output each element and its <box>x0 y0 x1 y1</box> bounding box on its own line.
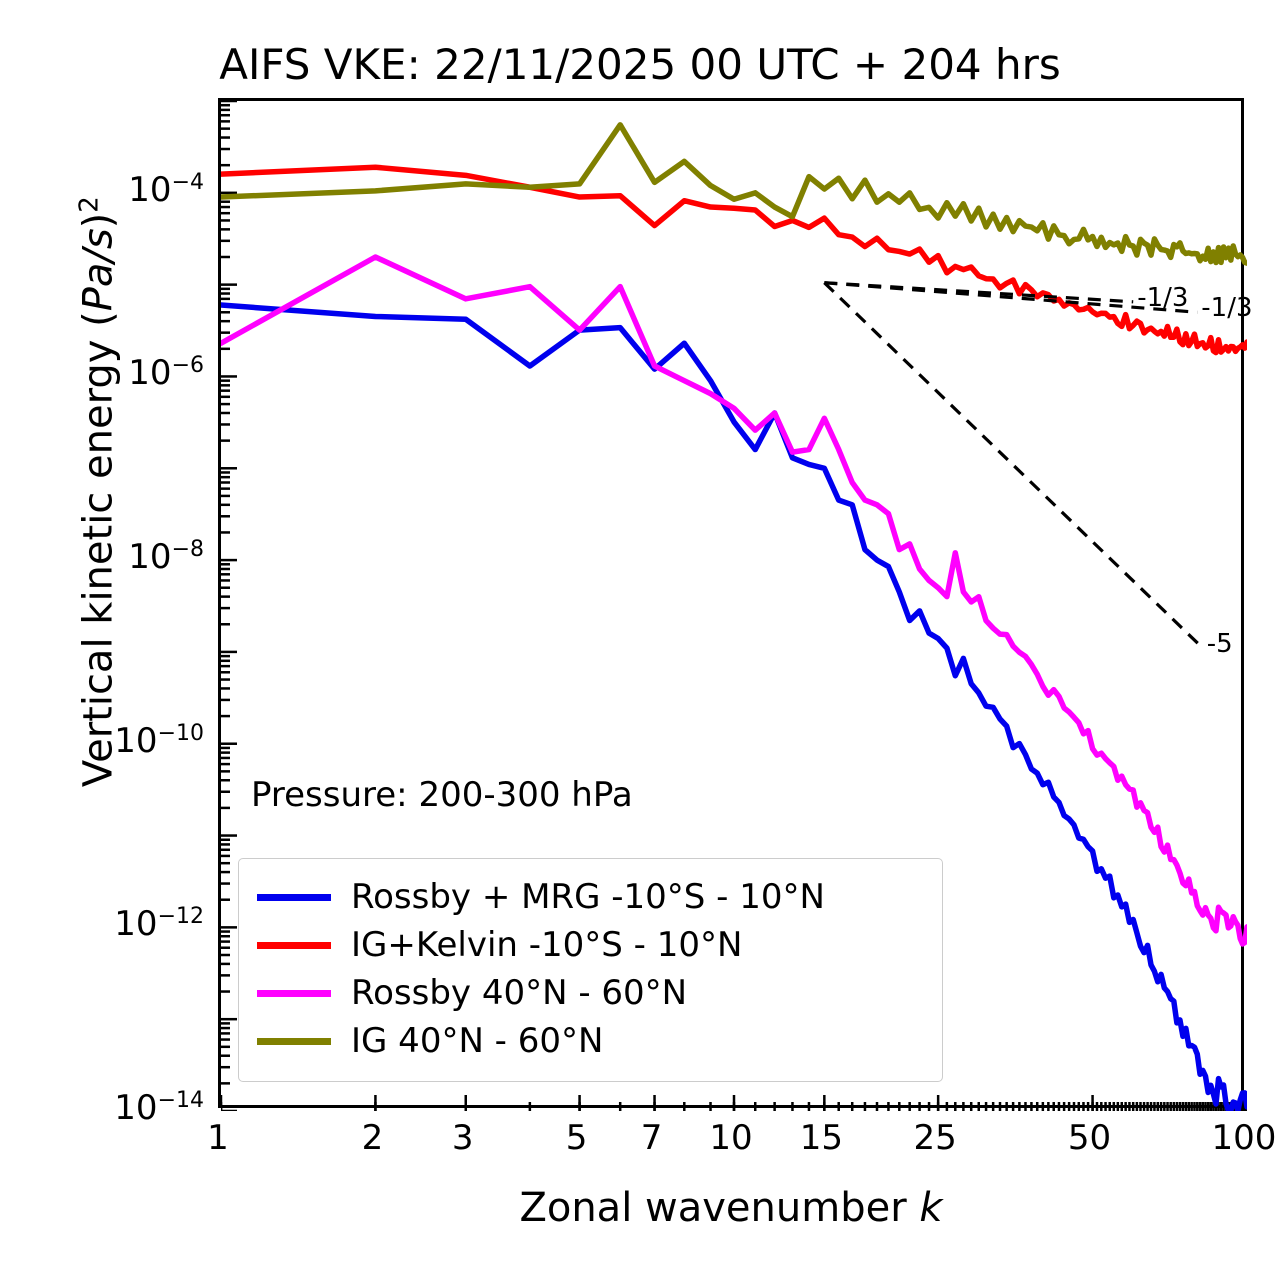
x-tick-label-10: 10 <box>709 1118 752 1158</box>
y-tick-exponent: −14 <box>158 1088 204 1113</box>
legend-item-ig-kelvin[interactable]: IG+Kelvin -10°S - 10°N <box>257 921 924 969</box>
x-tick-label-25: 25 <box>914 1118 957 1158</box>
y-tick-exponent: −10 <box>158 721 204 746</box>
x-tick-label-2: 2 <box>362 1118 384 1158</box>
pressure-annotation: Pressure: 200-300 hPa <box>251 775 633 815</box>
y-tick-base: 10 <box>114 905 157 945</box>
y-axis-label-text: Vertical kinetic energy ( <box>76 311 122 787</box>
reference-slope-line-2 <box>824 283 1202 648</box>
x-tick-label-7: 7 <box>641 1118 663 1158</box>
legend-label-rossby-mid: Rossby 40°N - 60°N <box>351 976 687 1010</box>
y-axis-label-close: ) <box>76 213 122 229</box>
legend-swatch-magenta <box>257 990 331 997</box>
legend-item-rossby-mid[interactable]: Rossby 40°N - 60°N <box>257 969 924 1017</box>
legend-item-ig-mid[interactable]: IG 40°N - 60°N <box>257 1017 924 1065</box>
y-axis-label: Vertical kinetic energy (Pa/s)2 <box>74 2 121 982</box>
y-tick-label--14: 10−14 <box>114 1088 204 1128</box>
x-axis-label: Zonal wavenumber k <box>218 1185 1244 1231</box>
y-tick-label--4: 10−4 <box>128 170 204 210</box>
legend-item-rossby-mrg[interactable]: Rossby + MRG -10°S - 10°N <box>257 873 924 921</box>
reference-slope-label-1: -1/3 <box>1201 293 1252 323</box>
y-tick-base: 10 <box>128 170 171 210</box>
x-axis-label-text: Zonal wavenumber <box>519 1185 919 1231</box>
x-tick-label-100: 100 <box>1212 1118 1277 1158</box>
y-tick-base: 10 <box>128 537 171 577</box>
legend-label-ig-kelvin: IG+Kelvin -10°S - 10°N <box>351 928 742 962</box>
series-line-3 <box>221 125 1247 263</box>
x-tick-label-1: 1 <box>207 1118 229 1158</box>
y-tick-base: 10 <box>114 721 157 761</box>
y-tick-exponent: −4 <box>172 170 204 195</box>
legend-swatch-red <box>257 942 331 949</box>
legend-swatch-blue <box>257 894 331 901</box>
y-tick-exponent: −8 <box>172 537 204 562</box>
x-tick-label-5: 5 <box>566 1118 588 1158</box>
y-axis-label-units: Pa/s <box>76 228 122 311</box>
y-tick-label--6: 10−6 <box>128 353 204 393</box>
x-axis-label-symbol: k <box>919 1185 942 1231</box>
y-tick-exponent: −12 <box>158 904 204 929</box>
legend: Rossby + MRG -10°S - 10°N IG+Kelvin -10°… <box>238 858 943 1082</box>
legend-label-ig-mid: IG 40°N - 60°N <box>351 1024 603 1058</box>
y-tick-base: 10 <box>128 354 171 394</box>
x-tick-label-15: 15 <box>800 1118 843 1158</box>
legend-label-rossby-mrg: Rossby + MRG -10°S - 10°N <box>351 880 825 914</box>
y-axis-label-exponent: 2 <box>74 196 104 213</box>
plot-area: Pressure: 200-300 hPa Rossby + MRG -10°S… <box>218 98 1244 1108</box>
reference-slope-label-0: -1/3 <box>1137 283 1188 313</box>
series-line-2 <box>221 257 1247 944</box>
x-tick-label-3: 3 <box>452 1118 474 1158</box>
reference-slope-label-2: -5 <box>1207 629 1233 659</box>
page-title: AIFS VKE: 22/11/2025 00 UTC + 204 hrs <box>0 40 1280 89</box>
legend-swatch-olive <box>257 1038 331 1045</box>
y-tick-exponent: −6 <box>172 353 204 378</box>
y-tick-label--10: 10−10 <box>114 721 204 761</box>
y-tick-label--12: 10−12 <box>114 904 204 944</box>
y-tick-label--8: 10−8 <box>128 537 204 577</box>
x-tick-label-50: 50 <box>1068 1118 1111 1158</box>
y-tick-base: 10 <box>114 1088 157 1128</box>
